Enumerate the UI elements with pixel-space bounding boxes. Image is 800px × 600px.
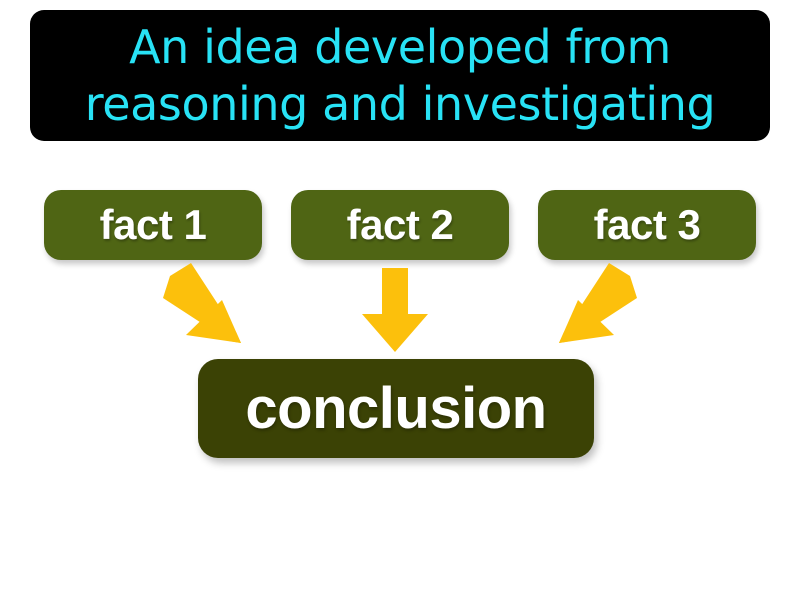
- fact-box-3[interactable]: fact 3: [538, 190, 756, 260]
- fact-box-2[interactable]: fact 2: [291, 190, 509, 260]
- diagram-canvas: An idea developed from reasoning and inv…: [0, 0, 800, 600]
- title-banner: An idea developed from reasoning and inv…: [30, 10, 770, 141]
- fact-box-1[interactable]: fact 1: [44, 190, 262, 260]
- title-text: An idea developed from reasoning and inv…: [85, 19, 716, 131]
- conclusion-box[interactable]: conclusion: [198, 359, 594, 458]
- arrow-down-left-icon: [559, 263, 637, 343]
- fact-3-label: fact 3: [594, 204, 701, 246]
- fact-1-label: fact 1: [100, 204, 207, 246]
- fact-2-label: fact 2: [347, 204, 454, 246]
- arrow-down-right-icon: [163, 263, 241, 343]
- conclusion-label: conclusion: [245, 380, 546, 438]
- facts-row: fact 1 fact 2 fact 3: [44, 190, 756, 260]
- arrow-down-icon: [362, 268, 428, 352]
